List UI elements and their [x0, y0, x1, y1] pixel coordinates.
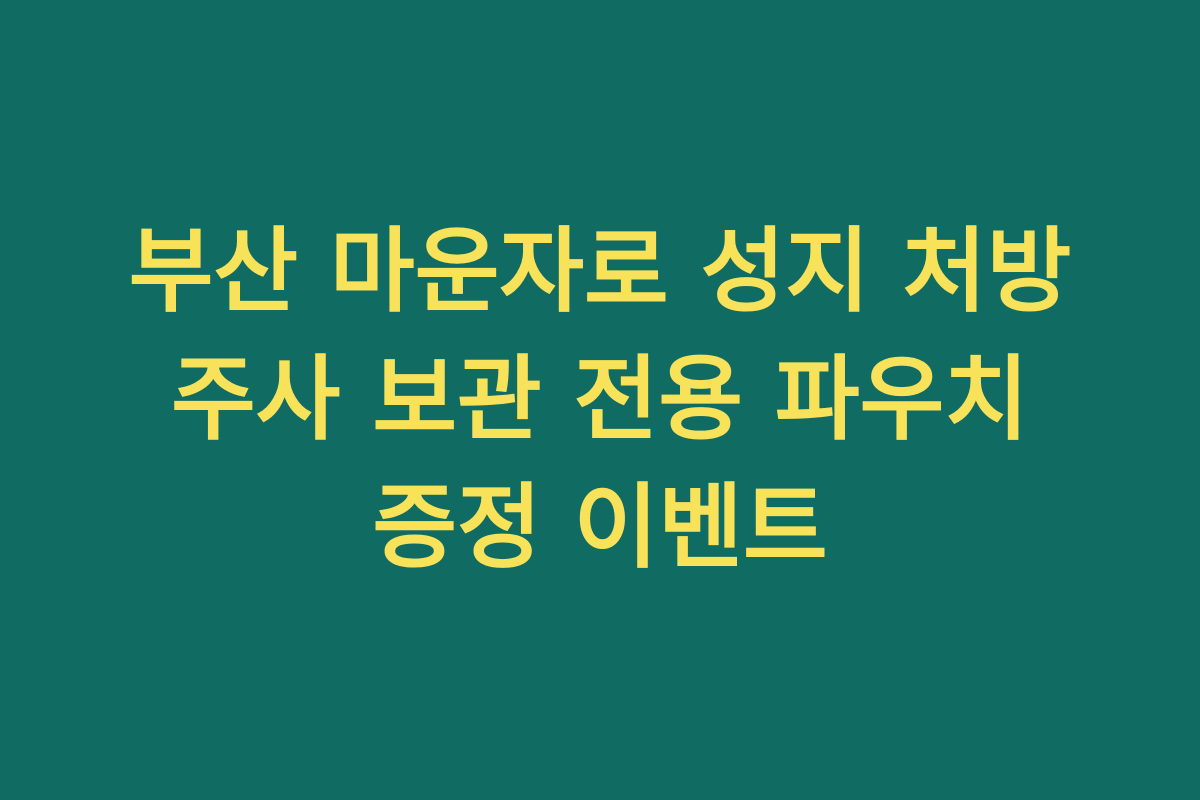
- page-title: 부산 마운자로 성지 처방 주사 보관 전용 파우치 증정 이벤트: [30, 208, 1170, 592]
- promo-banner: 부산 마운자로 성지 처방 주사 보관 전용 파우치 증정 이벤트: [0, 0, 1200, 800]
- headline-line-2: 주사 보관 전용 파우치: [30, 336, 1170, 464]
- headline-line-1: 부산 마운자로 성지 처방: [30, 208, 1170, 336]
- headline-line-3: 증정 이벤트: [30, 464, 1170, 592]
